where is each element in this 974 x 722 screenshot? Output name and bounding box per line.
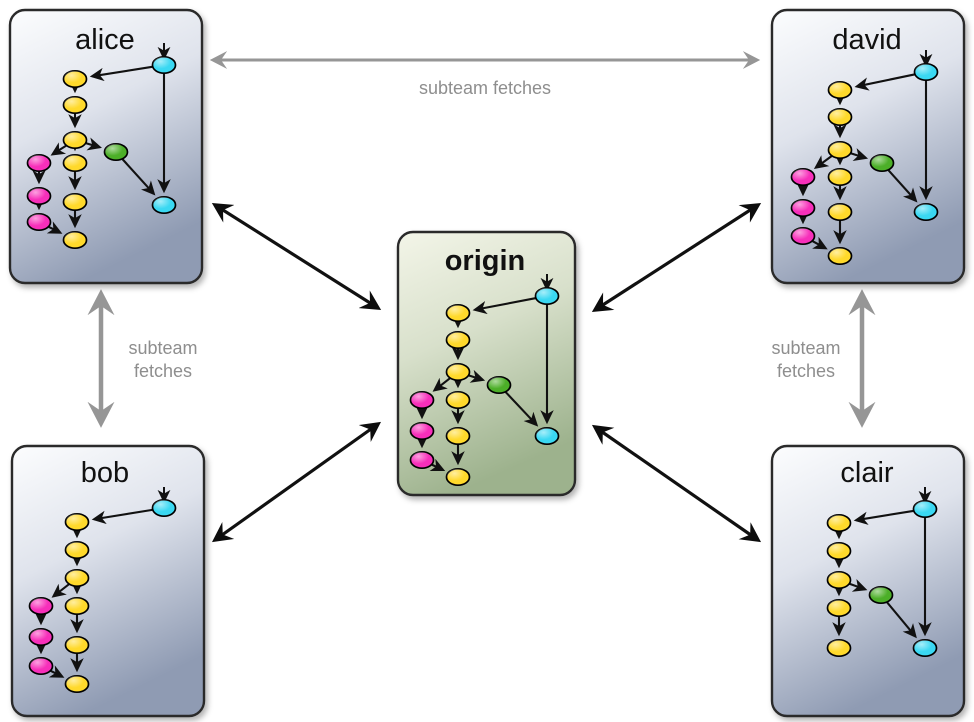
commit-node[interactable] (64, 232, 87, 248)
commit-node[interactable] (488, 377, 511, 393)
commit-node[interactable] (153, 57, 176, 73)
commit-node[interactable] (28, 188, 51, 204)
repo-title-origin: origin (445, 245, 526, 277)
commit-node[interactable] (30, 629, 53, 645)
commit-node[interactable] (64, 132, 87, 148)
commit-node[interactable] (411, 392, 434, 408)
commit-node[interactable] (411, 423, 434, 439)
commit-node[interactable] (829, 169, 852, 185)
commit-node[interactable] (915, 204, 938, 220)
commit-node[interactable] (792, 169, 815, 185)
label-left: subteamfetches (128, 338, 197, 381)
commit-node[interactable] (536, 428, 559, 444)
commit-node[interactable] (153, 197, 176, 213)
commit-node[interactable] (64, 194, 87, 210)
commit-node[interactable] (411, 452, 434, 468)
label-right: subteamfetches (771, 338, 840, 381)
commit-node[interactable] (66, 676, 89, 692)
repo-title-david: david (832, 24, 901, 56)
alice-origin (215, 205, 378, 308)
commit-node[interactable] (66, 514, 89, 530)
commit-node[interactable] (828, 515, 851, 531)
commit-node[interactable] (829, 204, 852, 220)
commit-node[interactable] (64, 71, 87, 87)
commit-node[interactable] (66, 542, 89, 558)
repo-box-clair[interactable]: clair (772, 446, 964, 716)
commit-node[interactable] (871, 155, 894, 171)
commit-node[interactable] (829, 142, 852, 158)
commit-node[interactable] (829, 82, 852, 98)
david-origin (595, 205, 758, 310)
repo-title-alice: alice (75, 24, 135, 56)
commit-node[interactable] (30, 658, 53, 674)
commit-node[interactable] (153, 500, 176, 516)
commit-node[interactable] (829, 248, 852, 264)
commit-node[interactable] (66, 570, 89, 586)
repo-box-david[interactable]: david (772, 10, 964, 283)
repo-box-alice[interactable]: alice (10, 10, 202, 283)
commit-node[interactable] (105, 144, 128, 160)
commit-node[interactable] (30, 598, 53, 614)
commit-node[interactable] (447, 428, 470, 444)
repo-title-bob: bob (81, 457, 129, 489)
commit-node[interactable] (66, 637, 89, 653)
commit-node[interactable] (447, 364, 470, 380)
commit-node[interactable] (447, 469, 470, 485)
repo-box-origin[interactable]: origin (398, 232, 575, 495)
commit-node[interactable] (28, 155, 51, 171)
commit-node[interactable] (64, 155, 87, 171)
commit-node[interactable] (914, 501, 937, 517)
commit-node[interactable] (828, 600, 851, 616)
commit-node[interactable] (792, 228, 815, 244)
commit-node[interactable] (64, 97, 87, 113)
repo-title-clair: clair (840, 457, 894, 489)
commit-node[interactable] (829, 109, 852, 125)
commit-node[interactable] (792, 200, 815, 216)
commit-node[interactable] (447, 332, 470, 348)
commit-node[interactable] (28, 214, 51, 230)
commit-node[interactable] (828, 572, 851, 588)
commit-node[interactable] (828, 640, 851, 656)
commit-node[interactable] (914, 640, 937, 656)
commit-node[interactable] (536, 288, 559, 304)
repo-box-bob[interactable]: bob (12, 446, 204, 716)
bob-origin (215, 424, 378, 540)
commit-node[interactable] (828, 543, 851, 559)
distributed-git-topology-diagram: alicedavidbobclairorigin subteam fetches… (0, 0, 974, 722)
commit-node[interactable] (915, 64, 938, 80)
clair-origin (595, 427, 758, 540)
commit-node[interactable] (447, 305, 470, 321)
commit-node[interactable] (66, 598, 89, 614)
commit-node[interactable] (870, 587, 893, 603)
commit-node[interactable] (447, 392, 470, 408)
label-top: subteam fetches (419, 78, 551, 98)
diagram-canvas: alicedavidbobclairorigin subteam fetches… (0, 0, 974, 722)
